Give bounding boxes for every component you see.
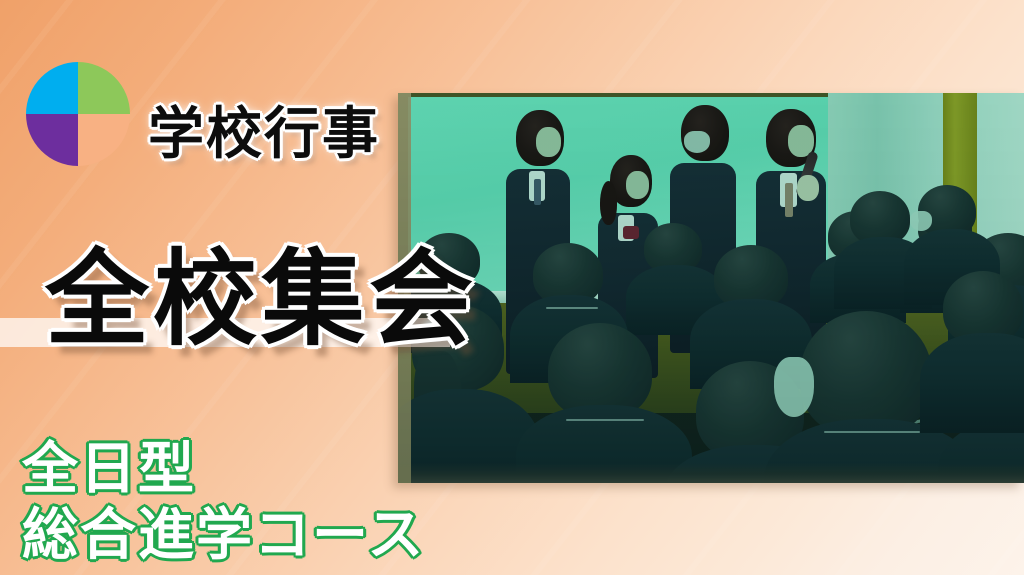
page-title: 全校集会 [45, 247, 477, 351]
uniform-collar [824, 431, 920, 433]
audience-face-mask [910, 211, 932, 231]
logo-quadrant-top-right [78, 62, 130, 114]
speaker-face [536, 127, 561, 157]
audience-face-mask [774, 357, 814, 417]
speaker-face-mask [684, 131, 710, 153]
uniform-collar [546, 307, 598, 309]
school-event-banner: 学校行事 全校集会 全日型 総合進学コース [0, 0, 1024, 575]
four-quadrant-circle-logo [26, 62, 130, 166]
course-line-1: 全日型 [22, 437, 425, 503]
logo-quadrant-top-left [26, 62, 78, 114]
uniform-collar [566, 419, 644, 421]
speaker-face [626, 171, 649, 199]
speaker-ribbon [623, 226, 639, 239]
logo-quadrant-bottom-right [78, 114, 130, 166]
speaker-tie [785, 183, 793, 217]
speaker-tie [534, 179, 541, 205]
category-label: 学校行事 [148, 107, 380, 163]
course-line-2: 総合進学コース [22, 503, 425, 569]
speaker-ponytail [600, 181, 617, 225]
course-name-block: 全日型 総合進学コース [22, 437, 425, 568]
audience-shoulders [920, 333, 1024, 433]
photo-bottom-band [398, 463, 1024, 483]
school-assembly-photo [398, 93, 1024, 483]
microphone-hand [797, 175, 819, 201]
logo-quadrant-bottom-left [26, 114, 78, 166]
photo-scene [398, 93, 1024, 483]
